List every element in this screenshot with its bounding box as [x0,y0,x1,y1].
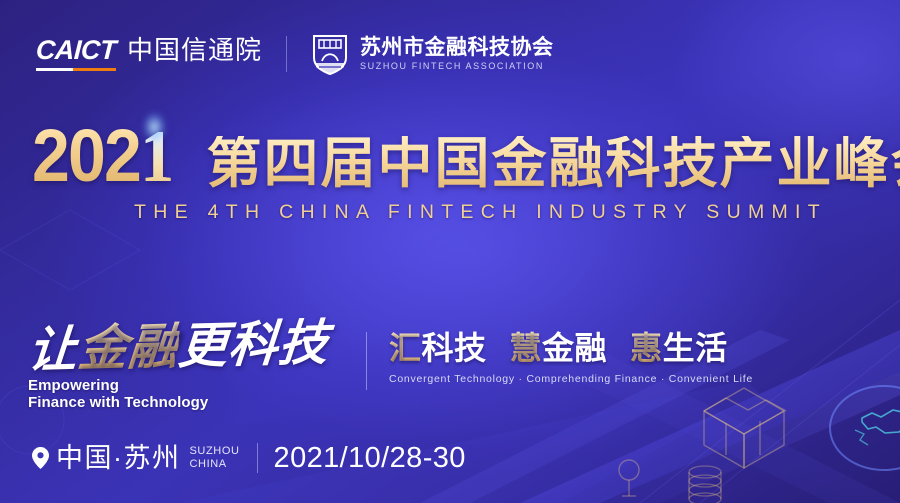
caict-wordmark: CAICT [36,37,116,71]
year-prefix: 202 [32,114,140,197]
slogan-item-2-gold: 慧 [510,330,543,366]
page-subtitle-en: THE 4TH CHINA FINTECH INDUSTRY SUMMIT [134,201,882,224]
caict-rule-orange [73,68,116,71]
caict-name-cn: 中国信通院 [127,37,262,71]
page-title: 第四届中国金融科技产业峰会 [206,136,900,191]
slogan-item-3-gold: 惠 [630,330,663,366]
pin-outline-icon [619,460,639,496]
slogan-left-cn: 让金融更科技 [26,318,331,375]
slogan-left-en: Empowering Finance with Technology [28,377,358,412]
city-name-en: SUZHOU CHINA [190,445,240,471]
city-en-line1: SUZHOU [190,445,240,458]
slogan-item-2-white: 金融 [542,330,607,366]
sfa-name-en: SUZHOU FINTECH ASSOCIATION [360,62,554,71]
globe-map-circle-icon [830,386,900,470]
shield-gate-emblem-icon [311,33,349,75]
slogan-left-en-line1: Empowering [28,377,358,394]
slogan-item-2: 慧金融 [510,332,608,364]
city-en-line2: CHINA [190,458,240,471]
caict-abbr: CAICT [35,37,116,64]
footer-info: 中国·苏州 SUZHOU CHINA 2021/10/28-30 [32,443,466,473]
slogan-item-1-gold: 汇 [389,330,422,366]
slogan-left-gold: 金融 [76,319,181,377]
slogan-divider [366,332,367,390]
slogan-left-en-line2: Finance with Technology [28,394,358,411]
caict-logo[interactable]: CAICT 中国信通院 [36,37,262,71]
slogan-right: 汇科技 慧金融 惠生活 Convergent Technology · Comp… [389,326,753,385]
sfa-name-cn: 苏州市金融科技协会 [360,37,554,59]
slogan-right-line: 汇科技 慧金融 惠生活 [389,332,753,364]
slogan-left-part3: 更科技 [176,315,331,374]
slogan-item-3: 惠生活 [630,332,728,364]
coil-spiral-icon [689,466,721,503]
header-divider [286,36,287,72]
caict-rule-white [36,68,73,71]
slogan-left-part1: 让 [26,322,80,378]
event-date: 2021/10/28-30 [274,444,466,473]
footer-divider [257,443,258,473]
slogan-item-1-white: 科技 [422,330,487,366]
slogan-item-3-white: 生活 [663,330,728,366]
sfa-logo[interactable]: 苏州市金融科技协会 SUZHOU FINTECH ASSOCIATION [311,33,554,75]
poster-canvas: CAICT 中国信通院 苏州市金融科技协会 [0,0,900,503]
caict-underline-rule [36,68,116,71]
background-decorations [0,0,900,503]
decoration-svg [0,0,900,503]
slogan-row: 让金融更科技 Empowering Finance with Technolog… [28,326,753,412]
sfa-text-block: 苏州市金融科技协会 SUZHOU FINTECH ASSOCIATION [360,37,554,70]
title-row: 2021 第四届中国金融科技产业峰会 [32,122,882,191]
title-block: 2021 第四届中国金融科技产业峰会 THE 4TH CHINA FINTECH… [32,122,882,224]
location-pin-icon [32,447,49,469]
header-logos: CAICT 中国信通院 苏州市金融科技协会 [36,33,554,75]
year-last-digit: 1 [140,116,172,198]
year-2021: 2021 [32,122,172,191]
city-name-cn: 中国·苏州 [56,445,181,472]
slogan-left: 让金融更科技 Empowering Finance with Technolog… [28,326,358,412]
slogan-item-1: 汇科技 [389,332,487,364]
slogan-right-en: Convergent Technology · Comprehending Fi… [389,373,753,385]
